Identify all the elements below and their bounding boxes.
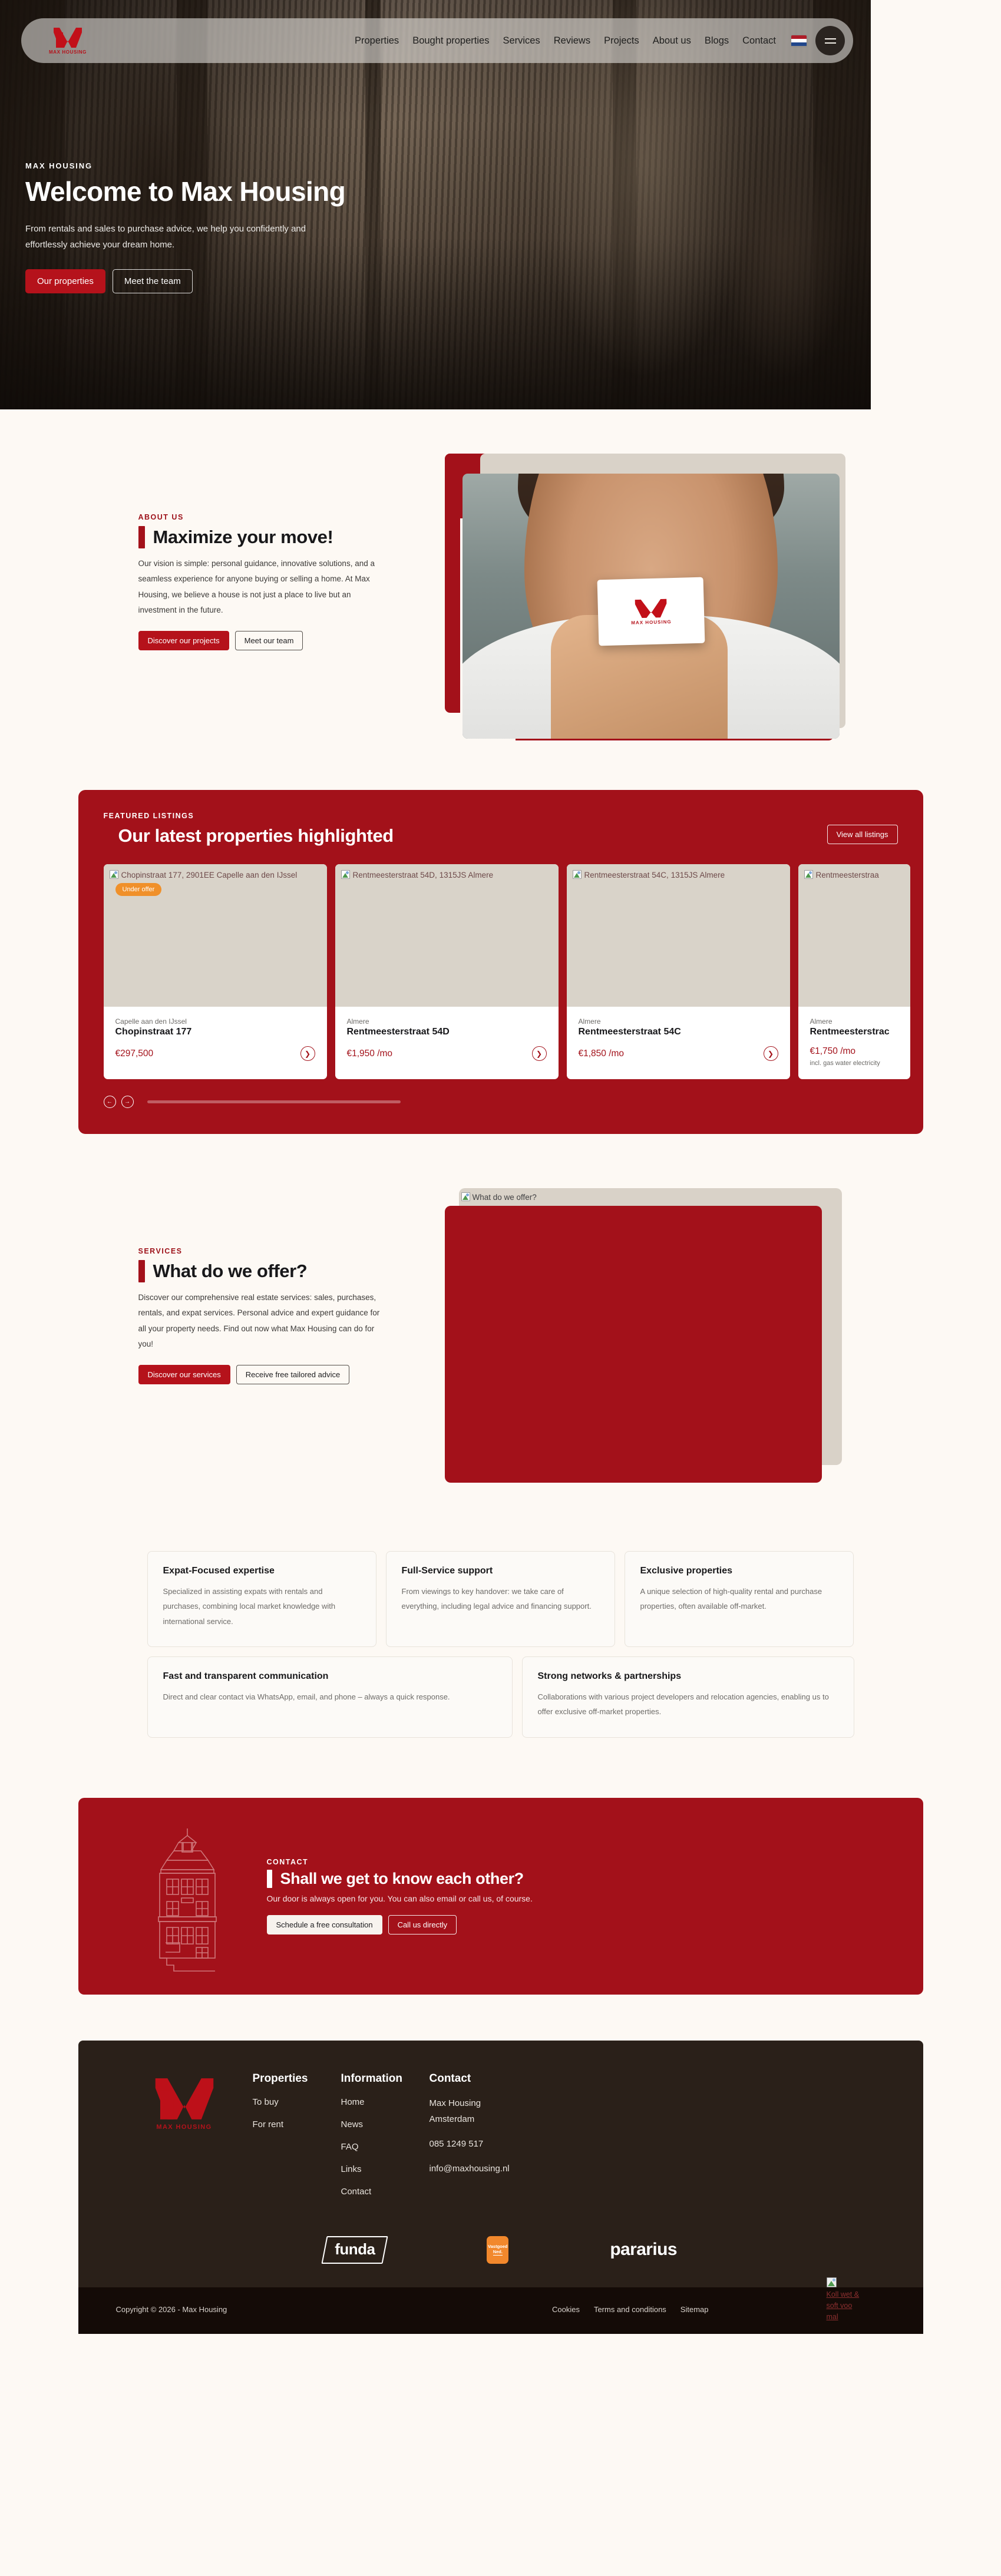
property-card[interactable]: Rentmeesterstraat 54D, 1315JS Almere Alm… [335,864,559,1079]
footer-link-home[interactable]: Home [341,2097,430,2107]
property-price: €297,500 [115,1049,154,1059]
broken-image-icon [804,870,813,879]
business-card-logo: MAX HOUSING [597,577,705,646]
footer-phone[interactable]: 085 1249 517 [430,2138,606,2151]
feature-card-text: Direct and clear contact via WhatsApp, e… [163,1689,497,1704]
nav-item-about-us[interactable]: About us [653,35,691,47]
feature-card-text: Collaborations with various project deve… [538,1689,838,1719]
main-navigation: MAX HOUSING Properties Bought properties… [21,18,853,63]
meet-our-team-button[interactable]: Meet our team [235,631,303,650]
footer-link-sitemap[interactable]: Sitemap [680,2305,709,2314]
discover-our-projects-button[interactable]: Discover our projects [138,631,229,650]
property-address: Rentmeesterstrac [810,1027,898,1037]
footer-column-properties: Properties To buy For rent [253,2072,341,2209]
hero-eyebrow: MAX HOUSING [25,161,438,170]
nav-item-properties[interactable]: Properties [355,35,399,47]
footer-link-cookies[interactable]: Cookies [552,2305,580,2314]
footer-company-name: Max Housing [430,2097,606,2110]
services-title: What do we offer? [153,1261,308,1282]
footer-column-information: Information Home News FAQ Links Contact [341,2072,430,2209]
property-card[interactable]: Rentmeesterstraat 54C, 1315JS Almere Alm… [567,864,790,1079]
services-text-block: SERVICES What do we offer? Discover our … [94,1188,412,1384]
accent-bar [138,1260,145,1282]
about-accent-left [445,454,460,713]
featured-title: Our latest properties highlighted [118,825,394,846]
broken-image-icon [341,870,350,879]
property-image-alt: Rentmeesterstraa [816,869,879,881]
discover-our-services-button[interactable]: Discover our services [138,1365,230,1384]
property-address: Rentmeesterstraat 54C [579,1027,778,1037]
feature-card-title: Exclusive properties [640,1566,838,1576]
feature-card-title: Fast and transparent communication [163,1671,497,1682]
canal-house-illustration [143,1825,232,1972]
nav-links: Properties Bought properties Services Re… [355,35,776,47]
feature-card: Exclusive properties A unique selection … [625,1551,854,1647]
about-photo: MAX HOUSING [462,474,840,739]
business-card-label: MAX HOUSING [631,619,672,626]
schedule-consultation-button[interactable]: Schedule a free consultation [267,1915,382,1935]
footer-broken-image-alt: Koll wet & soft voo mal [827,2289,860,2323]
hero-buttons: Our properties Meet the team [25,269,438,293]
about-text-block: ABOUT US Maximize your move! Our vision … [94,454,412,650]
property-note: incl. gas water electricity [810,1060,898,1067]
vastgoed-nederland-logo[interactable]: Vastgoed Ned. [487,2236,508,2264]
property-detail-arrow-icon[interactable]: ❯ [764,1046,778,1061]
property-image-alt: Chopinstraat 177, 2901EE Capelle aan den… [121,869,298,881]
property-city: Almere [810,1017,898,1026]
footer-column-heading: Information [341,2072,430,2085]
property-card[interactable]: Rentmeesterstraa Almere Rentmeesterstrac… [798,864,910,1079]
footer-column-contact: Contact Max Housing Amsterdam 085 1249 5… [430,2072,606,2209]
footer-link-links[interactable]: Links [341,2164,430,2174]
feature-card-text: A unique selection of high-quality renta… [640,1584,838,1614]
about-text: Our vision is simple: personal guidance,… [138,556,380,618]
property-city: Almere [579,1017,778,1026]
call-us-directly-button[interactable]: Call us directly [388,1915,457,1935]
footer-logo[interactable]: MAX HOUSING [116,2072,253,2209]
feature-card: Expat-Focused expertise Specialized in a… [147,1551,376,1647]
receive-free-tailored-advice-button[interactable]: Receive free tailored advice [236,1365,349,1384]
footer-link-to-buy[interactable]: To buy [253,2097,341,2107]
carousel-controls: ← → [104,1096,898,1108]
featured-kicker: FEATURED LISTINGS [104,812,394,820]
property-price: €1,850 /mo [579,1049,625,1059]
footer-logo-label: MAX HOUSING [156,2124,212,2131]
footer-link-terms[interactable]: Terms and conditions [594,2305,666,2314]
footer-link-for-rent[interactable]: For rent [253,2119,341,2129]
property-card-list: Chopinstraat 177, 2901EE Capelle aan den… [104,864,898,1079]
feature-card: Full-Service support From viewings to ke… [386,1551,615,1647]
our-properties-button[interactable]: Our properties [25,269,105,293]
services-image-alt-row: What do we offer? [461,1192,537,1202]
property-image: Rentmeesterstraa [798,864,910,1007]
services-kicker: SERVICES [138,1247,412,1255]
hero-section: MAX HOUSING Properties Bought properties… [0,0,871,409]
about-title: Maximize your move! [153,527,333,548]
nav-item-services[interactable]: Services [503,35,540,47]
broken-image-icon [110,870,118,879]
broken-image-icon [461,1192,470,1201]
broken-image-icon [573,870,582,879]
feature-card-title: Full-Service support [402,1566,599,1576]
broken-image-icon [827,2277,837,2287]
footer-city: Amsterdam [430,2113,606,2126]
pararius-logo[interactable]: pararius [610,2240,677,2260]
feature-card: Fast and transparent communication Direc… [147,1656,513,1738]
meet-the-team-button[interactable]: Meet the team [113,269,193,293]
property-image-alt: Rentmeesterstraat 54C, 1315JS Almere [584,869,725,881]
view-all-listings-button[interactable]: View all listings [827,825,898,844]
services-image [445,1206,822,1483]
nav-item-contact[interactable]: Contact [742,35,776,47]
hero-title: Welcome to Max Housing [25,177,438,207]
accent-bar [138,526,145,548]
feature-card: Strong networks & partnerships Collabora… [522,1656,854,1738]
services-image-alt: What do we offer? [473,1193,537,1202]
logo-label: MAX HOUSING [49,49,87,55]
hamburger-menu-icon[interactable] [815,26,845,55]
property-address: Rentmeesterstraat 54D [347,1027,547,1037]
property-detail-arrow-icon[interactable]: ❯ [532,1046,547,1061]
footer-link-news[interactable]: News [341,2119,430,2129]
nav-item-blogs[interactable]: Blogs [705,35,729,47]
feature-cards-section: Expat-Focused expertise Specialized in a… [0,1500,1001,1738]
footer-column-heading: Properties [253,2072,341,2085]
accent-bar [267,1870,272,1888]
nav-right-controls [791,26,845,55]
property-city: Capelle aan den IJssel [115,1017,315,1026]
copyright-text: Copyright © 2026 - Max Housing [116,2305,227,2314]
property-image: Rentmeesterstraat 54C, 1315JS Almere [567,864,790,1007]
feature-card-text: From viewings to key handover: we take c… [402,1584,599,1614]
about-image-block: MAX HOUSING [445,454,851,757]
carousel-scrollbar[interactable] [147,1100,401,1103]
contact-cta-section: CONTACT Shall we get to know each other?… [0,1747,1001,1995]
partner-logos: funda Vastgoed Ned. pararius [116,2236,886,2287]
logo[interactable]: MAX HOUSING [41,27,94,55]
arrow-left-icon[interactable]: ← [104,1096,116,1108]
footer-broken-image: Koll wet & soft voo mal [827,2277,860,2323]
feature-card-title: Expat-Focused expertise [163,1566,361,1576]
nav-item-projects[interactable]: Projects [604,35,639,47]
property-image-alt: Rentmeesterstraat 54D, 1315JS Almere [353,869,494,881]
footer: MAX HOUSING Properties To buy For rent I… [78,2041,923,2334]
hero-subtitle: From rentals and sales to purchase advic… [25,221,346,254]
status-badge: Under offer [115,883,162,896]
footer-bottom-bar: Copyright © 2026 - Max Housing Cookies T… [78,2287,923,2334]
services-section: SERVICES What do we offer? Discover our … [0,1134,1001,1500]
services-text: Discover our comprehensive real estate s… [138,1290,380,1352]
footer-column-heading: Contact [430,2072,606,2085]
services-image-block: What do we offer? [445,1188,851,1500]
footer-link-faq[interactable]: FAQ [341,2142,430,2152]
nav-item-reviews[interactable]: Reviews [554,35,590,47]
cta-subtitle: Our door is always open for you. You can… [267,1894,533,1903]
cta-kicker: CONTACT [267,1858,533,1866]
property-card[interactable]: Chopinstraat 177, 2901EE Capelle aan den… [104,864,327,1079]
property-address: Chopinstraat 177 [115,1027,315,1037]
feature-card-title: Strong networks & partnerships [538,1671,838,1682]
homepage: MAX HOUSING Properties Bought properties… [0,0,1001,2334]
about-section: ABOUT US Maximize your move! Our vision … [0,409,1001,757]
footer-legal-links: Cookies Terms and conditions Sitemap [552,2305,709,2314]
nav-item-bought-properties[interactable]: Bought properties [412,35,489,47]
property-image: Chopinstraat 177, 2901EE Capelle aan den… [104,864,327,1007]
property-detail-arrow-icon[interactable]: ❯ [300,1046,315,1061]
cta-title: Shall we get to know each other? [280,1870,524,1888]
arrow-right-icon[interactable]: → [121,1096,134,1108]
about-kicker: ABOUT US [138,513,412,521]
hero-content: MAX HOUSING Welcome to Max Housing From … [25,161,438,293]
property-price: €1,950 /mo [347,1049,393,1059]
dutch-flag-icon[interactable] [791,35,807,47]
funda-logo[interactable]: funda [321,2236,388,2264]
property-price: €1,750 /mo [810,1046,898,1057]
property-image: Rentmeesterstraat 54D, 1315JS Almere [335,864,559,1007]
footer-email[interactable]: info@maxhousing.nl [430,2162,606,2175]
property-city: Almere [347,1017,547,1026]
featured-listings-section: FEATURED LISTINGS Our latest properties … [0,757,1001,1134]
footer-link-contact[interactable]: Contact [341,2187,430,2197]
feature-card-text: Specialized in assisting expats with ren… [163,1584,361,1629]
